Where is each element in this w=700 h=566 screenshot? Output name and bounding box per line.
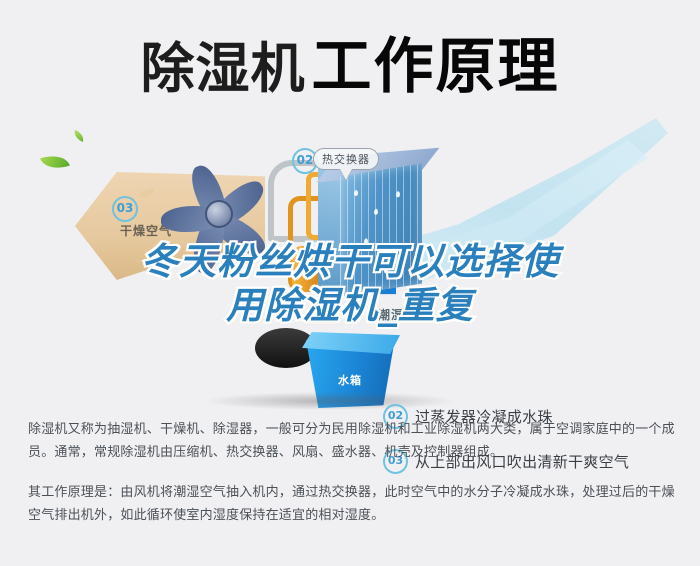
badge-03-dry-air: 03 <box>112 196 138 222</box>
heat-exchanger-callout: 热交换器 <box>313 148 379 170</box>
leaf-icon <box>72 130 86 142</box>
body-copy: 除湿机又称为抽湿机、干燥机、除湿器，一般可分为民用除湿机和工业除湿机两大类，属于… <box>28 418 678 539</box>
dehumidifier-diagram: 干燥空气 03 潮湿空气 01 <box>0 110 700 410</box>
page-title: 除湿机工作原理 <box>0 18 700 105</box>
page-title-part1: 除湿机 <box>141 37 306 100</box>
evaporator-fins <box>340 164 422 297</box>
water-tank-label: 水箱 <box>338 372 362 388</box>
paragraph-1: 除湿机又称为抽湿机、干燥机、除湿器，一般可分为民用除湿机和工业除湿机两大类，属于… <box>28 418 678 464</box>
leaf-icon <box>40 150 70 173</box>
page-title-part2: 工作原理 <box>312 32 560 102</box>
evaporator-coil <box>340 164 422 297</box>
infographic-page: 除湿机工作原理 干燥空气 03 潮湿空气 01 <box>0 0 700 566</box>
fan-hub <box>205 200 233 228</box>
paragraph-2: 其工作原理是：由风机将潮湿空气抽入机内，通过热交换器，此时空气中的水分子冷凝成水… <box>28 481 678 527</box>
